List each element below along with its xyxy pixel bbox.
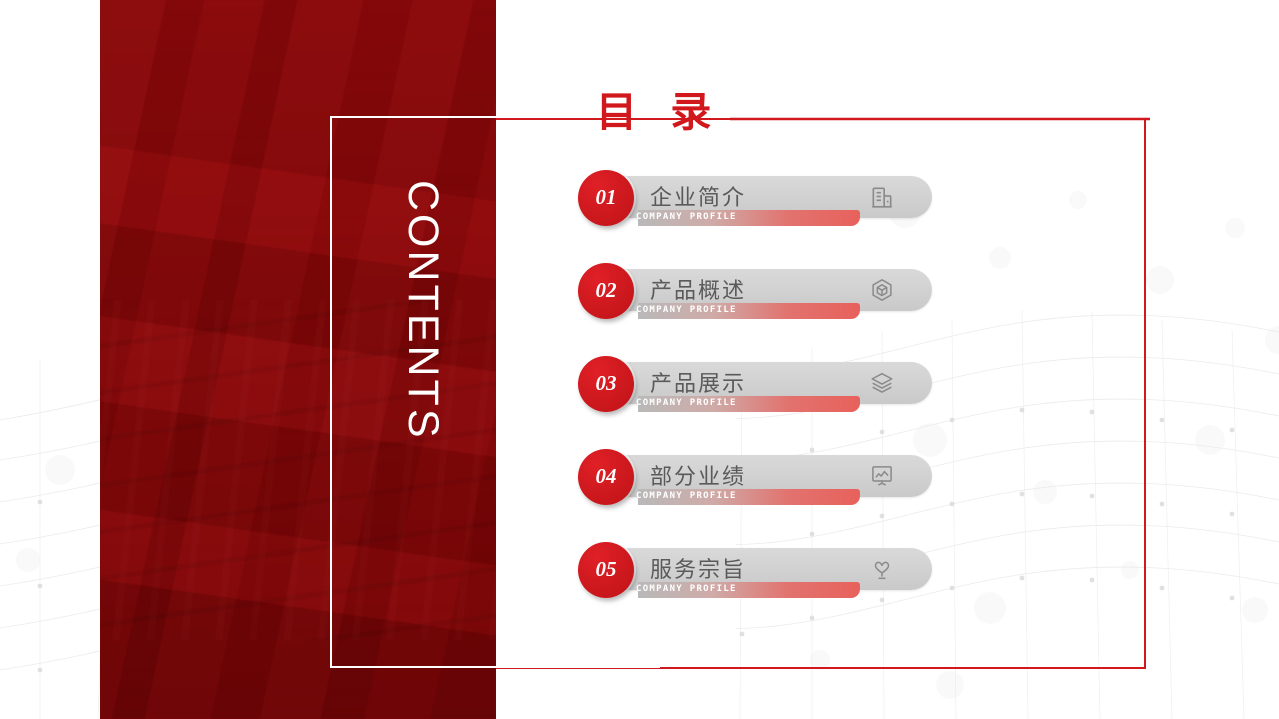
item-subtitle-bar: COMPANY PROFILE [638,396,860,412]
item-subtitle: COMPANY PROFILE [636,398,737,408]
item-number-badge: 05 [578,542,634,598]
title-rule [730,115,1150,123]
contents-vertical-label: CONTENTS [398,180,447,441]
item-subtitle-bar: COMPANY PROFILE [638,489,860,505]
item-number-badge: 04 [578,449,634,505]
item-label: 产品展示 [650,366,746,398]
item-subtitle: COMPANY PROFILE [636,305,737,315]
item-label: 产品概述 [650,273,746,305]
layers-icon [868,369,896,397]
item-subtitle: COMPANY PROFILE [636,212,737,222]
item-number: 05 [596,557,617,582]
slide-canvas: CONTENTS 目 录 COMPANY PROFILE 01 企业简介 [0,0,1279,719]
item-subtitle: COMPANY PROFILE [636,491,737,501]
item-subtitle-bar: COMPANY PROFILE [638,210,860,226]
item-number: 03 [596,371,617,396]
item-subtitle-bar: COMPANY PROFILE [638,303,860,319]
heart-award-icon [868,555,896,583]
item-subtitle-bar: COMPANY PROFILE [638,582,860,598]
presentation-chart-icon [868,462,896,490]
page-title-text: 目 录 [596,92,722,133]
cube-hexagon-icon [868,276,896,304]
contents-vertical-text: CONTENTS [399,180,447,441]
item-number: 01 [596,185,617,210]
item-number-badge: 03 [578,356,634,412]
item-number: 02 [596,278,617,303]
item-number-badge: 02 [578,263,634,319]
page-title: 目 录 [596,92,722,133]
building-icon [868,183,896,211]
item-label: 企业简介 [650,180,746,212]
item-number: 04 [596,464,617,489]
item-number-badge: 01 [578,170,634,226]
item-label: 服务宗旨 [650,552,746,584]
item-subtitle: COMPANY PROFILE [636,584,737,594]
item-label: 部分业绩 [650,459,746,491]
